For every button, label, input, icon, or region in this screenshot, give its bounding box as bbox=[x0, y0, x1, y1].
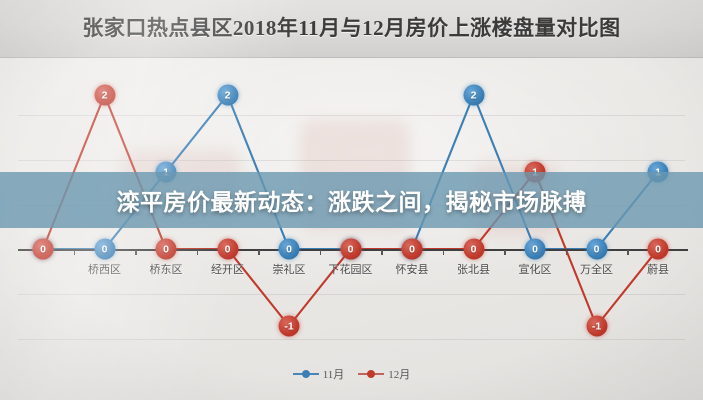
data-point[interactable]: 0 bbox=[156, 239, 177, 260]
legend-label: 11月 bbox=[323, 366, 345, 382]
data-point[interactable]: 0 bbox=[463, 239, 484, 260]
x-axis-label: 蔚县 bbox=[647, 261, 669, 277]
data-point[interactable]: 0 bbox=[217, 239, 238, 260]
x-axis-tick bbox=[135, 250, 136, 255]
legend-swatch-icon bbox=[293, 373, 319, 375]
screenshot-root: 张家口热点县区2018年11月与12月房价上涨楼盘量对比图 0012000200… bbox=[0, 0, 703, 400]
data-point[interactable]: 2 bbox=[94, 85, 115, 106]
x-axis-label: 张北县 bbox=[457, 261, 490, 277]
chart-legend: 11月 12月 bbox=[0, 366, 703, 382]
x-axis-label: 下花园区 bbox=[329, 261, 373, 277]
data-point[interactable]: 0 bbox=[402, 239, 423, 260]
data-point[interactable]: 0 bbox=[525, 239, 546, 260]
data-point[interactable]: 0 bbox=[340, 239, 361, 260]
x-axis-tick bbox=[197, 250, 198, 255]
x-axis-label: 经开区 bbox=[211, 261, 244, 277]
legend-item-dec[interactable]: 12月 bbox=[358, 366, 410, 382]
headline-banner: 滦平房价最新动态：涨跌之间，揭秘市场脉搏 bbox=[0, 172, 703, 228]
x-axis-tick bbox=[566, 250, 567, 255]
legend-item-nov[interactable]: 11月 bbox=[293, 366, 345, 382]
data-point[interactable]: -1 bbox=[279, 316, 300, 337]
x-axis-label: 宣化区 bbox=[519, 261, 552, 277]
x-axis-label: 崇礼区 bbox=[273, 261, 306, 277]
data-point[interactable]: 0 bbox=[586, 239, 607, 260]
data-point[interactable]: 0 bbox=[279, 239, 300, 260]
x-axis-tick bbox=[381, 250, 382, 255]
x-axis-label: 桥东区 bbox=[150, 261, 183, 277]
x-axis-tick bbox=[443, 250, 444, 255]
data-point[interactable]: 0 bbox=[94, 239, 115, 260]
data-point[interactable]: -1 bbox=[586, 316, 607, 337]
chart-title-bar: 张家口热点县区2018年11月与12月房价上涨楼盘量对比图 bbox=[0, 0, 703, 58]
legend-swatch-icon bbox=[358, 373, 384, 375]
legend-label: 12月 bbox=[388, 366, 410, 382]
x-axis-tick bbox=[74, 250, 75, 255]
x-axis-label: 怀安县 bbox=[396, 261, 429, 277]
data-point[interactable]: 0 bbox=[648, 239, 669, 260]
data-point[interactable]: 2 bbox=[217, 85, 238, 106]
chart-title: 张家口热点县区2018年11月与12月房价上涨楼盘量对比图 bbox=[0, 12, 703, 42]
x-axis-tick bbox=[504, 250, 505, 255]
x-axis-tick bbox=[258, 250, 259, 255]
headline-text: 滦平房价最新动态：涨跌之间，揭秘市场脉搏 bbox=[117, 183, 587, 217]
x-axis-label: 万全区 bbox=[580, 261, 613, 277]
data-point[interactable]: 0 bbox=[33, 239, 54, 260]
x-axis-tick bbox=[320, 250, 321, 255]
x-axis-label: 桥西区 bbox=[88, 261, 121, 277]
x-axis-tick bbox=[627, 250, 628, 255]
data-point[interactable]: 2 bbox=[463, 85, 484, 106]
